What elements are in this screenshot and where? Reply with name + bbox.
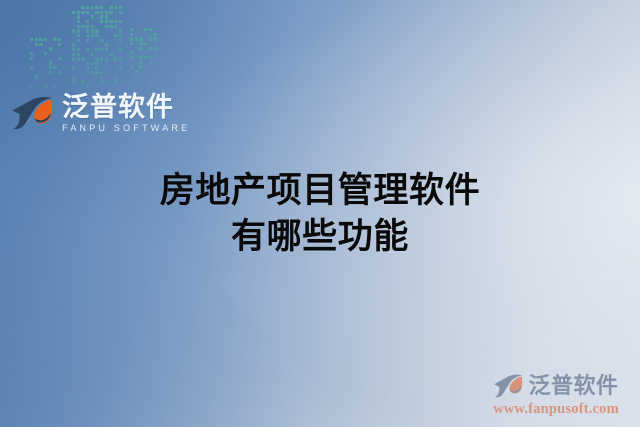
skyline-pixel xyxy=(130,51,133,54)
skyline-pixel xyxy=(91,53,94,56)
skyline-pixel xyxy=(81,25,84,28)
skyline-pixel xyxy=(53,38,56,41)
skyline-pixel xyxy=(95,71,98,74)
skyline-pixel xyxy=(153,33,156,36)
skyline-pixel xyxy=(119,6,122,9)
skyline-pixel xyxy=(77,20,80,23)
skyline-pixel xyxy=(105,25,108,28)
skyline-pixel xyxy=(105,20,108,23)
skyline-column xyxy=(30,38,64,94)
skyline-pixel xyxy=(95,57,98,60)
skyline-pixel xyxy=(139,65,142,68)
skyline-pixel xyxy=(105,80,108,83)
skyline-pixel xyxy=(119,20,122,23)
skyline-pixel xyxy=(30,57,33,60)
skyline-pixel xyxy=(109,25,112,28)
skyline-pixel xyxy=(130,84,133,87)
skyline-pixel xyxy=(114,6,117,9)
skyline-pixel xyxy=(144,42,147,45)
skyline-pixel xyxy=(49,71,52,74)
logo-english-name: FANPU SOFTWARE xyxy=(62,124,190,133)
fanpu-watermark-mark-icon xyxy=(493,374,523,398)
skyline-pixel xyxy=(149,28,152,31)
skyline-pixel xyxy=(86,29,89,32)
skyline-pixel xyxy=(30,52,33,55)
skyline-pixel xyxy=(44,38,47,41)
logo-wordmark: 泛普软件 FANPU SOFTWARE xyxy=(62,93,190,133)
skyline-pixel xyxy=(77,48,80,51)
skyline-pixel xyxy=(100,11,103,14)
skyline-pixel xyxy=(95,48,98,51)
skyline-pixel xyxy=(91,15,94,18)
skyline-pixel xyxy=(119,11,122,14)
skyline-pixel xyxy=(114,25,117,28)
skyline-pixel xyxy=(39,38,42,41)
skyline-pixel xyxy=(139,37,142,40)
skyline-pixel xyxy=(77,29,80,32)
skyline-pixel xyxy=(100,48,103,51)
watermark: 泛普软件 www.fanpusoft.com xyxy=(480,374,632,418)
skyline-pixel xyxy=(135,70,138,73)
skyline-pixel xyxy=(86,62,89,65)
skyline-pixel xyxy=(119,57,122,60)
skyline-pixel xyxy=(91,71,94,74)
skyline-pixel xyxy=(72,66,75,69)
skyline-pixel xyxy=(139,61,142,64)
skyline-pixel xyxy=(109,53,112,56)
page-title-line-1: 房地产项目管理软件 xyxy=(0,168,640,214)
background-light-wash xyxy=(0,0,640,427)
skyline-column xyxy=(130,28,158,94)
skyline-pixel xyxy=(144,28,147,31)
skyline-pixel xyxy=(86,20,89,23)
skyline-pixel xyxy=(109,6,112,9)
skyline-pixel xyxy=(86,6,89,9)
skyline-pixel xyxy=(149,61,152,64)
pixel-skyline-decoration xyxy=(30,0,158,94)
skyline-pixel xyxy=(53,66,56,69)
skyline-pixel xyxy=(86,11,89,14)
skyline-pixel xyxy=(95,11,98,14)
skyline-pixel xyxy=(95,66,98,69)
skyline-pixel xyxy=(86,48,89,51)
skyline-pixel xyxy=(91,34,94,37)
skyline-pixel xyxy=(81,11,84,14)
skyline-pixel xyxy=(130,37,133,40)
skyline-pixel xyxy=(130,33,133,36)
skyline-pixel xyxy=(72,29,75,32)
logo-chinese-name: 泛普软件 xyxy=(62,93,190,121)
skyline-pixel xyxy=(91,6,94,9)
skyline-pixel xyxy=(105,43,108,46)
skyline-pixel xyxy=(49,66,52,69)
skyline-pixel xyxy=(58,38,61,41)
skyline-pixel xyxy=(95,34,98,37)
skyline-pixel xyxy=(72,53,75,56)
skyline-pixel xyxy=(91,29,94,32)
page-title-line-2: 有哪些功能 xyxy=(0,214,640,260)
skyline-pixel xyxy=(139,42,142,45)
skyline-pixel xyxy=(100,39,103,42)
watermark-logo-row: 泛普软件 xyxy=(480,374,632,398)
skyline-pixel xyxy=(30,38,33,41)
skyline-pixel xyxy=(72,48,75,51)
skyline-pixel xyxy=(139,47,142,50)
skyline-pixel xyxy=(77,57,80,60)
skyline-pixel xyxy=(49,61,52,64)
skyline-pixel xyxy=(100,6,103,9)
skyline-pixel xyxy=(114,76,117,79)
skyline-pixel xyxy=(119,39,122,42)
skyline-pixel xyxy=(119,48,122,51)
skyline-pixel xyxy=(95,29,98,32)
skyline-pixel xyxy=(77,34,80,37)
skyline-pixel xyxy=(81,6,84,9)
skyline-pixel xyxy=(153,37,156,40)
skyline-pixel xyxy=(109,11,112,14)
skyline-pixel xyxy=(153,47,156,50)
skyline-pixel xyxy=(35,43,38,46)
skyline-pixel xyxy=(95,62,98,65)
skyline-pixel xyxy=(53,85,56,88)
skyline-pixel xyxy=(72,43,75,46)
skyline-pixel xyxy=(139,56,142,59)
skyline-pixel xyxy=(105,57,108,60)
skyline-pixel xyxy=(86,34,89,37)
skyline-pixel xyxy=(30,85,33,88)
skyline-pixel xyxy=(109,20,112,23)
skyline-pixel xyxy=(100,15,103,18)
skyline-pixel xyxy=(100,20,103,23)
skyline-pixel xyxy=(44,85,47,88)
skyline-pixel xyxy=(119,66,122,69)
skyline-pixel xyxy=(72,57,75,60)
skyline-pixel xyxy=(81,80,84,83)
skyline-pixel xyxy=(49,47,52,50)
skyline-pixel xyxy=(30,66,33,69)
skyline-pixel xyxy=(135,37,138,40)
skyline-pixel xyxy=(58,57,61,60)
watermark-url: www.fanpusoft.com xyxy=(480,401,632,418)
skyline-pixel xyxy=(149,47,152,50)
skyline-pixel xyxy=(100,57,103,60)
page-title: 房地产项目管理软件 有哪些功能 xyxy=(0,168,640,259)
watermark-chinese-name: 泛普软件 xyxy=(528,375,618,397)
skyline-pixel xyxy=(72,80,75,83)
skyline-pixel xyxy=(114,57,117,60)
skyline-pixel xyxy=(77,53,80,56)
skyline-pixel xyxy=(100,76,103,79)
fanpu-logo-mark-icon xyxy=(11,96,53,130)
skyline-pixel xyxy=(35,38,38,41)
skyline-pixel xyxy=(149,37,152,40)
skyline-pixel xyxy=(58,71,61,74)
skyline-pixel xyxy=(130,28,133,31)
skyline-pixel xyxy=(114,80,117,83)
skyline-pixel xyxy=(135,75,138,78)
skyline-pixel xyxy=(130,65,133,68)
skyline-pixel xyxy=(130,42,133,45)
skyline-pixel xyxy=(35,75,38,78)
skyline-pixel xyxy=(77,39,80,42)
skyline-pixel xyxy=(119,29,122,32)
skyline-pixel xyxy=(58,43,61,46)
skyline-pixel xyxy=(149,56,152,59)
skyline-pixel xyxy=(77,25,80,28)
skyline-pixel xyxy=(72,11,75,14)
skyline-pixel xyxy=(86,25,89,28)
skyline-pixel xyxy=(91,25,94,28)
skyline-pixel xyxy=(72,76,75,79)
skyline-pixel xyxy=(114,20,117,23)
skyline-pixel xyxy=(86,66,89,69)
skyline-pixel xyxy=(91,62,94,65)
skyline-pixel xyxy=(105,15,108,18)
skyline-pixel xyxy=(86,85,89,88)
skyline-column xyxy=(72,6,124,94)
skyline-pixel xyxy=(77,11,80,14)
skyline-pixel xyxy=(105,11,108,14)
skyline-pixel xyxy=(119,34,122,37)
skyline-pixel xyxy=(130,56,133,59)
skyline-pixel xyxy=(105,48,108,51)
promo-banner: 泛普软件 FANPU SOFTWARE 房地产项目管理软件 有哪些功能 泛普软件… xyxy=(0,0,640,427)
brand-logo: 泛普软件 FANPU SOFTWARE xyxy=(11,93,190,133)
skyline-pixel xyxy=(86,39,89,42)
skyline-pixel xyxy=(39,43,42,46)
skyline-pixel xyxy=(149,84,152,87)
skyline-pixel xyxy=(144,56,147,59)
skyline-pixel xyxy=(100,80,103,83)
skyline-pixel xyxy=(95,6,98,9)
skyline-pixel xyxy=(44,52,47,55)
skyline-pixel xyxy=(114,34,117,37)
skyline-pixel xyxy=(81,57,84,60)
skyline-pixel xyxy=(77,15,80,18)
skyline-pixel xyxy=(100,71,103,74)
